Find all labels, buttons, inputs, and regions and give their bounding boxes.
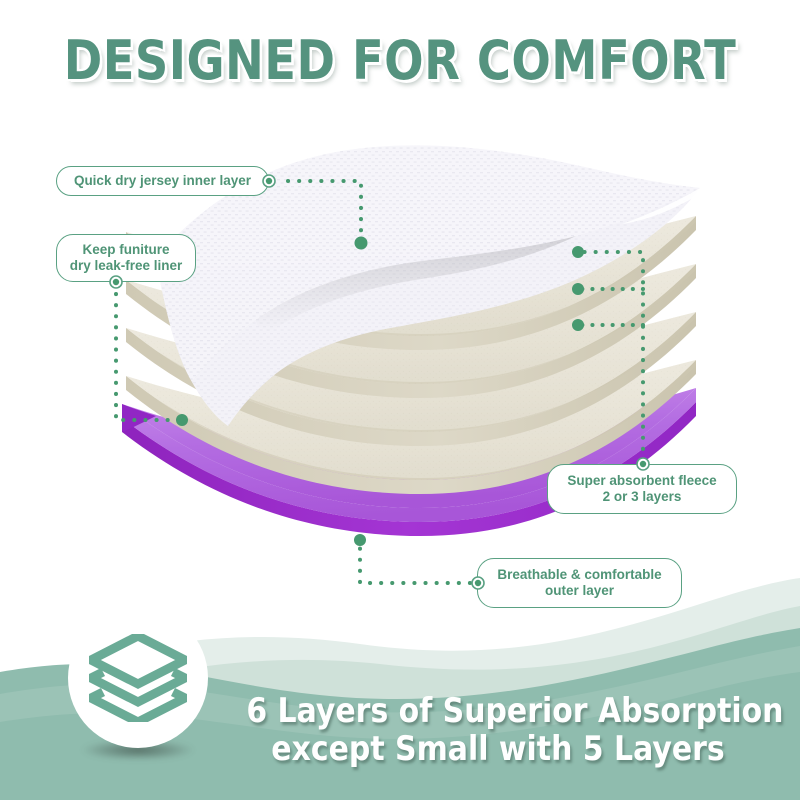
callout-quick-dry-jersey-inner-layer[interactable]: Quick dry jersey inner layer	[56, 166, 269, 196]
callout-breathable-comfortable-outer-layer[interactable]: Breathable & comfortable outer layer	[477, 558, 682, 608]
caption-line-1: 6 Layers of Superior Absorption	[246, 692, 749, 730]
callout-keep-furniture-dry-leak-free-liner[interactable]: Keep funiture dry leak-free liner	[56, 234, 196, 282]
infographic-canvas: DESIGNED FOR COMFORT	[0, 0, 800, 800]
page-title: DESIGNED FOR COMFORT	[0, 34, 800, 88]
bottom-caption: 6 Layers of Superior Absorption except S…	[212, 692, 784, 768]
product-layer-illustration	[60, 130, 740, 600]
callout-super-absorbent-fleece[interactable]: Super absorbent fleece 2 or 3 layers	[547, 464, 737, 514]
layers-badge	[68, 608, 208, 748]
stacked-layers-icon	[89, 634, 187, 722]
page-title-text: DESIGNED FOR COMFORT	[64, 34, 736, 88]
caption-line-2: except Small with 5 Layers	[246, 730, 749, 768]
